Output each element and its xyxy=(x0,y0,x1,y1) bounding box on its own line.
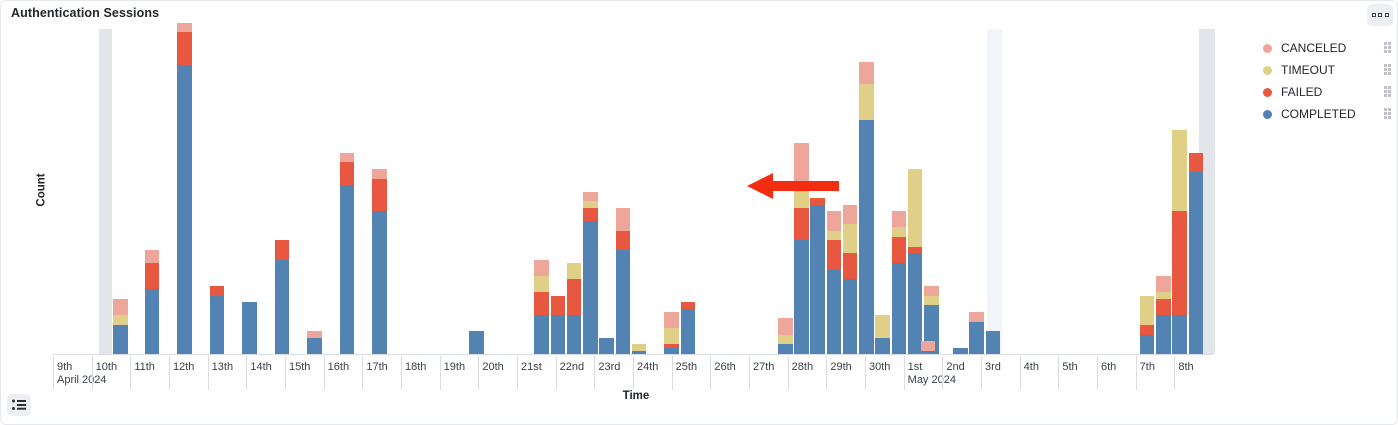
x-tick: 11th xyxy=(130,356,169,390)
legend-color-dot xyxy=(1263,110,1272,119)
x-tick-day: 6th xyxy=(1101,356,1136,374)
page-title: Authentication Sessions xyxy=(11,6,159,20)
drag-handle-icon[interactable] xyxy=(1384,86,1391,98)
x-tick: 3rd xyxy=(981,356,1020,390)
bar-segment-completed[interactable] xyxy=(810,205,825,355)
bar-segment-failed[interactable] xyxy=(843,253,858,279)
bar-segment-canceled[interactable] xyxy=(616,208,631,231)
x-tick: 26th xyxy=(710,356,749,390)
bar-segment-canceled[interactable] xyxy=(859,62,874,85)
bar-segment-canceled[interactable] xyxy=(892,211,907,227)
x-tick: 4th xyxy=(1020,356,1059,390)
legend-label: TIMEOUT xyxy=(1281,63,1335,77)
bar-stack[interactable] xyxy=(969,312,984,354)
bar-stack[interactable] xyxy=(145,250,160,354)
bar-segment-canceled[interactable] xyxy=(372,169,387,179)
bar-segment-failed[interactable] xyxy=(908,247,923,254)
bar-stack[interactable] xyxy=(810,198,825,354)
bar-segment-failed[interactable] xyxy=(145,263,160,289)
bar-stack[interactable] xyxy=(1140,296,1155,355)
x-tick: 5th xyxy=(1058,356,1097,390)
bar-segment-canceled[interactable] xyxy=(778,318,793,334)
x-tick-day: 4th xyxy=(1024,356,1059,374)
bar-segment-canceled[interactable] xyxy=(307,331,322,338)
bar-segment-canceled[interactable] xyxy=(340,153,355,163)
legend-label: CANCELED xyxy=(1281,41,1346,55)
bar-segment-completed[interactable] xyxy=(583,221,598,354)
bar-stack[interactable] xyxy=(827,211,842,354)
x-tick-day: 17th xyxy=(366,356,401,374)
x-tick: 16th xyxy=(324,356,363,390)
bar-segment-canceled[interactable] xyxy=(534,260,549,276)
bar-stack[interactable] xyxy=(534,260,549,354)
bar-segment-failed[interactable] xyxy=(372,179,387,212)
x-tick-day: 7th xyxy=(1140,356,1175,374)
bar-stack[interactable] xyxy=(583,192,598,355)
bar-segment-completed[interactable] xyxy=(145,289,160,354)
bar-stack[interactable] xyxy=(372,169,387,354)
x-tick: 15th xyxy=(285,356,324,390)
bar-segment-completed[interactable] xyxy=(567,315,582,354)
bar-segment-timeout[interactable] xyxy=(859,84,874,120)
x-tick-day: 25th xyxy=(676,356,711,374)
legend-item-timeout[interactable]: TIMEOUT xyxy=(1263,59,1398,81)
x-tick-day: 23rd xyxy=(598,356,633,374)
x-tick: 14th xyxy=(246,356,285,390)
bar-stack[interactable] xyxy=(113,299,128,354)
bar-stack[interactable] xyxy=(567,263,582,354)
bar-segment-timeout[interactable] xyxy=(1156,292,1171,299)
bar-segment-timeout[interactable] xyxy=(632,344,647,351)
bar-segment-timeout[interactable] xyxy=(567,263,582,279)
bar-segment-completed[interactable] xyxy=(551,315,566,354)
chart-panel: Authentication Sessions Count 9thApril 2… xyxy=(0,0,1398,425)
bar-stack[interactable] xyxy=(778,318,793,354)
x-tick: 24th xyxy=(633,356,672,390)
legend-label: FAILED xyxy=(1281,85,1322,99)
bar-stack[interactable] xyxy=(986,331,1001,354)
bar-stack[interactable] xyxy=(1172,130,1187,354)
x-tick-day: 9th xyxy=(57,356,92,374)
bar-segment-canceled[interactable] xyxy=(1156,276,1171,292)
drag-handle-icon[interactable] xyxy=(1384,108,1391,120)
x-axis-label: Time xyxy=(1,390,1271,402)
bar-segment-failed[interactable] xyxy=(681,302,696,309)
x-tick-day: 20th xyxy=(482,356,517,374)
x-tick: 18th xyxy=(401,356,440,390)
bar-segment-failed[interactable] xyxy=(664,344,679,347)
bar-segment-completed[interactable] xyxy=(827,270,842,355)
x-tick-day: 28th xyxy=(792,356,827,374)
x-tick: 30th xyxy=(865,356,904,390)
x-tick: 7th xyxy=(1136,356,1175,390)
bar-segment-timeout[interactable] xyxy=(908,169,923,247)
bar-segment-failed[interactable] xyxy=(794,208,809,241)
bar-segment-timeout[interactable] xyxy=(924,296,939,306)
bar-segment-failed[interactable] xyxy=(827,240,842,269)
bar-segment-canceled[interactable] xyxy=(924,286,939,296)
bar-segment-completed[interactable] xyxy=(616,250,631,354)
bar-segment-failed[interactable] xyxy=(1172,211,1187,315)
bar-segment-failed[interactable] xyxy=(1156,299,1171,315)
bar-segment-failed[interactable] xyxy=(340,162,355,185)
x-tick: 13th xyxy=(208,356,247,390)
x-tick: 25th xyxy=(672,356,711,390)
bar-segment-canceled[interactable] xyxy=(177,23,192,33)
bar-segment-completed[interactable] xyxy=(875,338,890,354)
bar-segment-completed[interactable] xyxy=(340,185,355,354)
bar-stack[interactable] xyxy=(242,302,257,354)
x-tick: 6th xyxy=(1097,356,1136,390)
bar-segment-completed[interactable] xyxy=(859,120,874,354)
bar-segment-failed[interactable] xyxy=(1140,325,1155,335)
x-tick: 10th xyxy=(92,356,131,390)
list-icon[interactable] xyxy=(7,394,31,416)
bar-segment-completed[interactable] xyxy=(210,296,225,355)
bar-stack[interactable] xyxy=(1156,276,1171,354)
bar-segment-timeout[interactable] xyxy=(827,231,842,241)
bar-stack[interactable] xyxy=(632,344,647,354)
drag-handle-icon[interactable] xyxy=(1384,42,1391,54)
chart-legend: CANCELEDTIMEOUTFAILEDCOMPLETED xyxy=(1263,37,1398,125)
legend-label: COMPLETED xyxy=(1281,107,1356,121)
bar-stack[interactable] xyxy=(340,153,355,355)
bar-segment-timeout[interactable] xyxy=(664,328,679,344)
bar-segment-failed[interactable] xyxy=(567,279,582,315)
x-tick-day: 2nd xyxy=(946,356,981,374)
x-tick: 12th xyxy=(169,356,208,390)
bar-segment-canceled[interactable] xyxy=(664,312,679,328)
legend-item-failed[interactable]: FAILED xyxy=(1263,81,1398,103)
bar-segment-completed[interactable] xyxy=(1172,315,1187,354)
overflow-squares-icon[interactable] xyxy=(1367,4,1393,26)
bar-stack[interactable] xyxy=(469,331,484,354)
x-tick-day: 27th xyxy=(753,356,788,374)
bar-segment-completed[interactable] xyxy=(843,279,858,354)
x-tick-day: 3rd xyxy=(985,356,1020,374)
bar-segment-completed[interactable] xyxy=(534,315,549,354)
bar-segment-timeout[interactable] xyxy=(1140,296,1155,325)
bar-stack[interactable] xyxy=(843,205,858,355)
chart-area: Count 9thApril 202410th11th12th13th14th1… xyxy=(1,29,1398,369)
bar-stack[interactable] xyxy=(892,211,907,354)
x-tick: 8th xyxy=(1174,356,1213,390)
x-tick: 22nd xyxy=(556,356,595,390)
bar-segment-failed[interactable] xyxy=(583,208,598,221)
x-tick: 2nd xyxy=(942,356,981,390)
bar-stack[interactable] xyxy=(307,331,322,354)
bar-segment-canceled[interactable] xyxy=(583,192,598,202)
x-axis-line xyxy=(53,354,1213,355)
x-tick-day: 21st xyxy=(521,356,556,374)
bar-segment-completed[interactable] xyxy=(892,263,907,354)
bar-segment-canceled[interactable] xyxy=(113,299,128,315)
x-tick-day: 8th xyxy=(1178,356,1213,374)
x-tick: 20th xyxy=(478,356,517,390)
bar-segment-completed[interactable] xyxy=(778,344,793,354)
list-glyph xyxy=(12,399,26,411)
x-tick-day: 10th xyxy=(96,356,131,374)
bar-segment-timeout[interactable] xyxy=(843,224,858,253)
bar-segment-completed[interactable] xyxy=(599,338,614,354)
bar-segment-completed[interactable] xyxy=(469,331,484,354)
x-tick-day: 16th xyxy=(328,356,363,374)
bar-segment-timeout[interactable] xyxy=(1172,130,1187,211)
x-tick-day: 15th xyxy=(289,356,324,374)
bar-stack[interactable] xyxy=(275,240,290,354)
bar-segment-completed[interactable] xyxy=(1156,315,1171,354)
highlight-band xyxy=(99,29,112,354)
x-tick-day: 22nd xyxy=(560,356,595,374)
bar-stack[interactable] xyxy=(616,208,631,354)
bar-segment-timeout[interactable] xyxy=(583,201,598,208)
bar-segment-failed[interactable] xyxy=(210,286,225,296)
legend-color-dot xyxy=(1263,88,1272,97)
x-tick: 29th xyxy=(826,356,865,390)
x-tick-day: 26th xyxy=(714,356,749,374)
x-tick-day: 1st xyxy=(908,356,943,374)
bar-stack[interactable] xyxy=(681,302,696,354)
bar-segment-completed[interactable] xyxy=(1140,335,1155,355)
x-tick-day: 12th xyxy=(173,356,208,374)
x-tick-day: 19th xyxy=(444,356,479,374)
bar-segment-completed[interactable] xyxy=(275,260,290,354)
bar-segment-failed[interactable] xyxy=(1189,153,1204,173)
x-tick-day: 11th xyxy=(134,356,169,374)
menu-square-2 xyxy=(1378,13,1382,17)
highlight-band xyxy=(987,29,1002,354)
bar-segment-completed[interactable] xyxy=(113,325,128,354)
x-tick-month: May 2024 xyxy=(908,374,943,387)
x-tick: 17th xyxy=(362,356,401,390)
bar-stack[interactable] xyxy=(908,169,923,354)
x-tick: 1stMay 2024 xyxy=(904,356,943,390)
bar-segment-timeout[interactable] xyxy=(534,276,549,292)
bar-stack[interactable] xyxy=(599,338,614,354)
x-tick-day: 30th xyxy=(869,356,904,374)
bar-stack[interactable] xyxy=(1189,153,1204,355)
x-tick-day: 13th xyxy=(212,356,247,374)
bar-stack[interactable] xyxy=(875,315,890,354)
bar-stack[interactable] xyxy=(921,341,936,354)
x-tick-day: 24th xyxy=(637,356,672,374)
x-tick: 21st xyxy=(517,356,556,390)
bar-segment-timeout[interactable] xyxy=(875,315,890,338)
bar-segment-canceled[interactable] xyxy=(843,205,858,225)
bar-segment-completed[interactable] xyxy=(908,253,923,354)
drag-handle-icon[interactable] xyxy=(1384,64,1391,76)
bar-stack[interactable] xyxy=(859,62,874,355)
x-tick: 19th xyxy=(440,356,479,390)
x-tick-day: 29th xyxy=(830,356,865,374)
bar-segment-completed[interactable] xyxy=(681,309,696,355)
bar-segment-completed[interactable] xyxy=(986,331,1001,354)
bar-segment-failed[interactable] xyxy=(551,296,566,316)
bar-segment-failed[interactable] xyxy=(616,231,631,251)
y-axis-label: Count xyxy=(36,173,48,206)
bar-segment-completed[interactable] xyxy=(307,338,322,354)
bar-segment-completed[interactable] xyxy=(242,302,257,354)
bar-stack[interactable] xyxy=(551,296,566,355)
legend-color-dot xyxy=(1263,44,1272,53)
x-tick-day: 18th xyxy=(405,356,440,374)
bar-segment-canceled[interactable] xyxy=(827,211,842,231)
x-tick-day: 5th xyxy=(1062,356,1097,374)
x-tick-day: 14th xyxy=(250,356,285,374)
menu-square-3 xyxy=(1385,13,1389,17)
plot-area[interactable] xyxy=(53,29,1213,354)
bar-segment-canceled[interactable] xyxy=(969,312,984,322)
menu-square-1 xyxy=(1372,13,1376,17)
x-tick: 9thApril 2024 xyxy=(53,356,92,390)
x-tick: 28th xyxy=(788,356,827,390)
bar-segment-timeout[interactable] xyxy=(892,227,907,237)
bar-stack[interactable] xyxy=(664,312,679,354)
bar-segment-failed[interactable] xyxy=(275,240,290,260)
bar-segment-completed[interactable] xyxy=(794,240,809,354)
bar-segment-completed[interactable] xyxy=(969,322,984,355)
bar-stack[interactable] xyxy=(177,23,192,355)
bar-segment-timeout[interactable] xyxy=(113,315,128,325)
bar-stack[interactable] xyxy=(210,286,225,354)
x-tick: 23rd xyxy=(594,356,633,390)
legend-color-dot xyxy=(1263,66,1272,75)
legend-item-completed[interactable]: COMPLETED xyxy=(1263,103,1398,125)
bar-segment-completed[interactable] xyxy=(372,211,387,354)
bar-segment-canceled[interactable] xyxy=(921,341,936,351)
legend-item-canceled[interactable]: CANCELED xyxy=(1263,37,1398,59)
x-tick: 27th xyxy=(749,356,788,390)
bar-segment-completed[interactable] xyxy=(1189,172,1204,354)
bar-segment-failed[interactable] xyxy=(177,32,192,65)
annotation-arrow-icon xyxy=(747,173,839,199)
bar-segment-failed[interactable] xyxy=(534,292,549,315)
bar-segment-failed[interactable] xyxy=(892,237,907,263)
bar-segment-canceled[interactable] xyxy=(145,250,160,263)
bar-segment-completed[interactable] xyxy=(177,65,192,354)
x-tick-month: April 2024 xyxy=(57,374,92,387)
bar-segment-timeout[interactable] xyxy=(778,335,793,345)
